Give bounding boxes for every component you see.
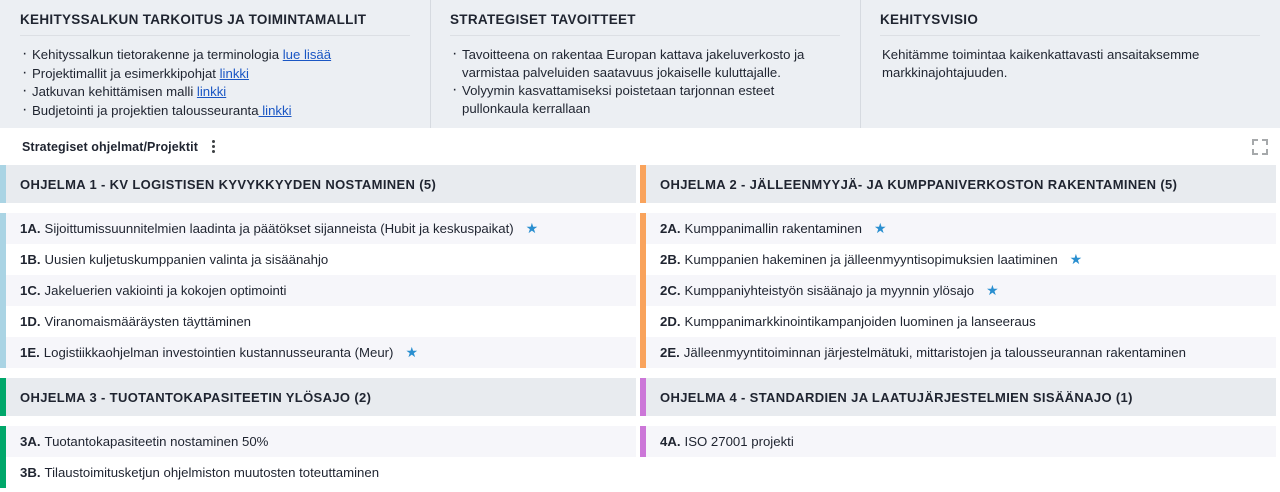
project-row[interactable]: 1C. Jakeluerien vakiointi ja kokojen opt… bbox=[0, 275, 636, 306]
project-row-empty bbox=[640, 457, 1276, 488]
project-code: 2A. bbox=[660, 221, 681, 236]
divider bbox=[20, 35, 410, 36]
info-column-title: STRATEGISET TAVOITTEET bbox=[450, 12, 840, 35]
project-label: 4A. ISO 27001 projekti bbox=[646, 434, 794, 449]
project-label: 2E. Jälleenmyyntitoiminnan järjestelmätu… bbox=[646, 345, 1186, 360]
list-item-text: Budjetointi ja projektien talousseuranta bbox=[32, 103, 259, 118]
program-column-1: OHJELMA 1 - KV LOGISTISEN KYVYKKYYDEN NO… bbox=[0, 165, 640, 368]
board-row: OHJELMA 3 - TUOTANTOKAPASITEETIN YLÖSAJO… bbox=[0, 378, 1280, 488]
project-label: 1C. Jakeluerien vakiointi ja kokojen opt… bbox=[6, 283, 286, 298]
star-icon: ★ bbox=[1070, 252, 1083, 266]
board-row: OHJELMA 1 - KV LOGISTISEN KYVYKKYYDEN NO… bbox=[0, 165, 1280, 368]
project-label: 1D. Viranomaismääräysten täyttäminen bbox=[6, 314, 251, 329]
list-item: Kehityssalkun tietorakenne ja terminolog… bbox=[20, 46, 410, 64]
info-column-goals: STRATEGISET TAVOITTEET Tavoitteena on ra… bbox=[430, 0, 860, 128]
link-lue-lisaa[interactable]: lue lisää bbox=[283, 47, 331, 62]
project-label: 1E. Logistiikkaohjelman investointien ku… bbox=[6, 345, 418, 360]
project-label: 3A. Tuotantokapasiteetin nostaminen 50% bbox=[6, 434, 268, 449]
divider bbox=[880, 35, 1260, 36]
list-item: Projektimallit ja esimerkkipohjat linkki bbox=[20, 65, 410, 83]
list-item-text: Jatkuvan kehittämisen malli bbox=[32, 84, 197, 99]
list-item: Tavoitteena on rakentaa Europan kattava … bbox=[450, 46, 840, 81]
program-column-4: OHJELMA 4 - STANDARDIEN JA LAATUJÄRJESTE… bbox=[640, 378, 1280, 488]
spacer bbox=[0, 203, 640, 213]
project-row[interactable]: 3B. Tilaustoimitusketjun ohjelmiston muu… bbox=[0, 457, 636, 488]
project-name: Kumppanimarkkinointikampanjoiden luomine… bbox=[685, 314, 1036, 329]
project-label: 1B. Uusien kuljetuskumppanien valinta ja… bbox=[6, 252, 328, 267]
project-row[interactable]: 2D. Kumppanimarkkinointikampanjoiden luo… bbox=[640, 306, 1276, 337]
project-row[interactable]: 2E. Jälleenmyyntitoiminnan järjestelmätu… bbox=[640, 337, 1276, 368]
board-title: Strategiset ohjelmat/Projektit bbox=[22, 140, 198, 154]
project-name: Viranomaismääräysten täyttäminen bbox=[45, 314, 251, 329]
list-item: Jatkuvan kehittämisen malli linkki bbox=[20, 83, 410, 101]
project-code: 2B. bbox=[660, 252, 681, 267]
link-projektimallit[interactable]: linkki bbox=[220, 66, 249, 81]
project-label: 2A. Kumppanimallin rakentaminen ★ bbox=[646, 221, 887, 236]
project-row[interactable]: 1A. Sijoittumissuunnitelmien laadinta ja… bbox=[0, 213, 636, 244]
project-name: Tuotantokapasiteetin nostaminen 50% bbox=[45, 434, 269, 449]
board-toolbar: Strategiset ohjelmat/Projektit bbox=[0, 128, 1280, 165]
project-label: 2B. Kumppanien hakeminen ja jälleenmyynt… bbox=[646, 252, 1082, 267]
project-row[interactable]: 1B. Uusien kuljetuskumppanien valinta ja… bbox=[0, 244, 636, 275]
info-column-title: KEHITYSVISIO bbox=[880, 12, 1260, 35]
kebab-menu-icon[interactable] bbox=[206, 138, 222, 156]
vision-text: Kehitämme toimintaa kaikenkattavasti ans… bbox=[880, 46, 1260, 81]
link-budjetointi[interactable]: linkki bbox=[259, 103, 292, 118]
project-code: 1E. bbox=[20, 345, 40, 360]
project-row[interactable]: 3A. Tuotantokapasiteetin nostaminen 50% bbox=[0, 426, 636, 457]
project-code: 1D. bbox=[20, 314, 41, 329]
program-title: OHJELMA 1 - KV LOGISTISEN KYVYKKYYDEN NO… bbox=[6, 177, 436, 192]
program-header-4[interactable]: OHJELMA 4 - STANDARDIEN JA LAATUJÄRJESTE… bbox=[640, 378, 1276, 416]
project-label: 2C. Kumppaniyhteistyön sisäänajo ja myyn… bbox=[646, 283, 999, 298]
list-item-text: Kehityssalkun tietorakenne ja terminolog… bbox=[32, 47, 283, 62]
project-row[interactable]: 2B. Kumppanien hakeminen ja jälleenmyynt… bbox=[640, 244, 1276, 275]
spacer bbox=[0, 416, 640, 426]
star-icon: ★ bbox=[986, 283, 999, 297]
project-name: Logistiikkaohjelman investointien kustan… bbox=[44, 345, 394, 360]
program-title: OHJELMA 3 - TUOTANTOKAPASITEETIN YLÖSAJO… bbox=[6, 390, 371, 405]
project-code: 1C. bbox=[20, 283, 41, 298]
project-code: 3A. bbox=[20, 434, 41, 449]
spacer bbox=[640, 416, 1280, 426]
divider bbox=[450, 35, 840, 36]
project-name: Kumppanien hakeminen ja jälleenmyyntisop… bbox=[685, 252, 1058, 267]
info-banner: KEHITYSSALKUN TARKOITUS JA TOIMINTAMALLI… bbox=[0, 0, 1280, 128]
spacer bbox=[0, 368, 1280, 378]
info-column-title: KEHITYSSALKUN TARKOITUS JA TOIMINTAMALLI… bbox=[20, 12, 410, 35]
list-item-text: Projektimallit ja esimerkkipohjat bbox=[32, 66, 220, 81]
program-header-3[interactable]: OHJELMA 3 - TUOTANTOKAPASITEETIN YLÖSAJO… bbox=[0, 378, 636, 416]
star-icon: ★ bbox=[874, 221, 887, 235]
project-name: Jakeluerien vakiointi ja kokojen optimoi… bbox=[45, 283, 287, 298]
program-column-3: OHJELMA 3 - TUOTANTOKAPASITEETIN YLÖSAJO… bbox=[0, 378, 640, 488]
project-code: 2E. bbox=[660, 345, 680, 360]
programs-board: OHJELMA 1 - KV LOGISTISEN KYVYKKYYDEN NO… bbox=[0, 165, 1280, 488]
project-label: 2D. Kumppanimarkkinointikampanjoiden luo… bbox=[646, 314, 1036, 329]
info-column-vision: KEHITYSVISIO Kehitämme toimintaa kaikenk… bbox=[860, 0, 1280, 128]
program-header-2[interactable]: OHJELMA 2 - JÄLLEENMYYJÄ- JA KUMPPANIVER… bbox=[640, 165, 1276, 203]
project-code: 1B. bbox=[20, 252, 41, 267]
program-column-2: OHJELMA 2 - JÄLLEENMYYJÄ- JA KUMPPANIVER… bbox=[640, 165, 1280, 368]
list-item: Budjetointi ja projektien talousseuranta… bbox=[20, 102, 410, 120]
project-row[interactable]: 1D. Viranomaismääräysten täyttäminen bbox=[0, 306, 636, 337]
project-code: 4A. bbox=[660, 434, 681, 449]
project-name: Tilaustoimitusketjun ohjelmiston muutost… bbox=[45, 465, 380, 480]
project-row[interactable]: 4A. ISO 27001 projekti bbox=[640, 426, 1276, 457]
project-code: 2D. bbox=[660, 314, 681, 329]
project-name: Kumppanimallin rakentaminen bbox=[685, 221, 862, 236]
spacer bbox=[640, 203, 1280, 213]
program-title: OHJELMA 4 - STANDARDIEN JA LAATUJÄRJESTE… bbox=[646, 390, 1133, 405]
project-name: Jälleenmyyntitoiminnan järjestelmätuki, … bbox=[684, 345, 1186, 360]
program-title: OHJELMA 2 - JÄLLEENMYYJÄ- JA KUMPPANIVER… bbox=[646, 177, 1177, 192]
program-accent-bar bbox=[640, 457, 646, 488]
project-row[interactable]: 2C. Kumppaniyhteistyön sisäänajo ja myyn… bbox=[640, 275, 1276, 306]
star-icon: ★ bbox=[526, 221, 539, 235]
project-row[interactable]: 2A. Kumppanimallin rakentaminen ★ bbox=[640, 213, 1276, 244]
project-code: 3B. bbox=[20, 465, 41, 480]
list-item: Volyymin kasvattamiseksi poistetaan tarj… bbox=[450, 82, 840, 117]
star-icon: ★ bbox=[405, 345, 418, 359]
project-name: Uusien kuljetuskumppanien valinta ja sis… bbox=[45, 252, 329, 267]
project-name: Kumppaniyhteistyön sisäänajo ja myynnin … bbox=[685, 283, 975, 298]
fullscreen-expand-icon[interactable] bbox=[1252, 139, 1268, 155]
program-header-1[interactable]: OHJELMA 1 - KV LOGISTISEN KYVYKKYYDEN NO… bbox=[0, 165, 636, 203]
project-code: 2C. bbox=[660, 283, 681, 298]
info-bullet-list: Tavoitteena on rakentaa Europan kattava … bbox=[450, 46, 840, 117]
project-name: Sijoittumissuunnitelmien laadinta ja pää… bbox=[45, 221, 514, 236]
info-column-purpose: KEHITYSSALKUN TARKOITUS JA TOIMINTAMALLI… bbox=[0, 0, 430, 128]
project-label: 1A. Sijoittumissuunnitelmien laadinta ja… bbox=[6, 221, 538, 236]
link-jatkuva-kehitys[interactable]: linkki bbox=[197, 84, 226, 99]
project-name: ISO 27001 projekti bbox=[685, 434, 794, 449]
project-row[interactable]: 1E. Logistiikkaohjelman investointien ku… bbox=[0, 337, 636, 368]
info-bullet-list: Kehityssalkun tietorakenne ja terminolog… bbox=[20, 46, 410, 119]
project-label: 3B. Tilaustoimitusketjun ohjelmiston muu… bbox=[6, 465, 379, 480]
project-code: 1A. bbox=[20, 221, 41, 236]
